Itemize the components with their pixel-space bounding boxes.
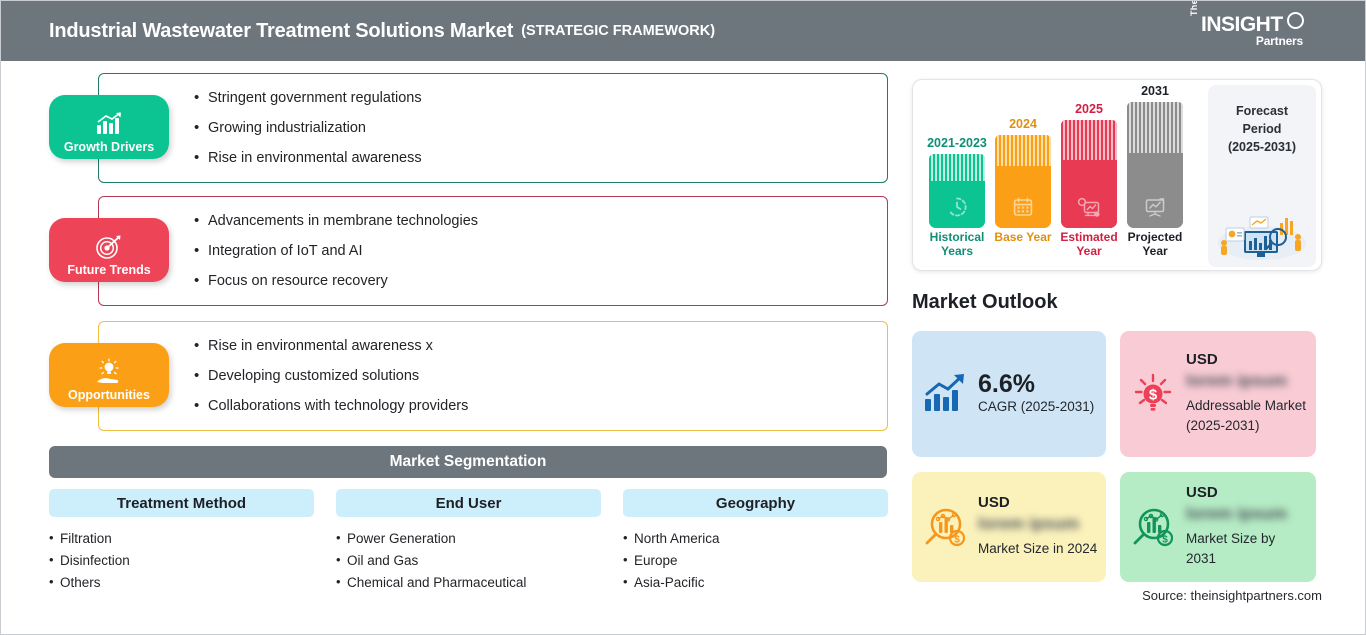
list-item: Focus on resource recovery — [194, 273, 478, 289]
list-item: Disinfection — [49, 553, 314, 568]
outlook-card-market-size-2031[interactable]: $ USD lorem ipsum Market Size by 2031 — [1120, 472, 1316, 582]
list-item: Power Generation — [336, 531, 601, 546]
factor-box-growth-drivers: Stringent government regulations Growing… — [98, 73, 888, 183]
list-item: Filtration — [49, 531, 314, 546]
page-title: Industrial Wastewater Treatment Solution… — [49, 20, 513, 43]
bar-caption: Projected Year — [1119, 230, 1191, 258]
segmentation-column-header-label: Geography — [716, 495, 795, 512]
outlook-card-market-size-2024[interactable]: $ USD lorem ipsum Market Size in 2024 — [912, 472, 1106, 582]
forecast-period-panel: Forecast Period (2025-2031) — [1208, 85, 1316, 267]
bar-caption: Historical Years — [921, 230, 993, 258]
badge-future-trends[interactable]: Future Trends — [49, 218, 169, 282]
badge-label: Opportunities — [68, 389, 150, 402]
list-item: Europe — [623, 553, 888, 568]
segmentation-column-header[interactable]: Geography — [623, 489, 888, 517]
segmentation-item-list: Filtration Disinfection Others — [49, 531, 314, 590]
analytics-gear-icon — [1061, 196, 1117, 218]
badge-growth-drivers[interactable]: Growth Drivers — [49, 95, 169, 159]
segmentation-column-header-label: End User — [436, 495, 502, 512]
forecast-line-2: Period — [1208, 121, 1316, 139]
list-item: Stringent government regulations — [194, 90, 422, 106]
bar-year-label: 2031 — [1125, 84, 1185, 98]
source-attribution: Source: theinsightpartners.com — [1142, 588, 1322, 603]
list-item: Integration of IoT and AI — [194, 243, 478, 259]
metric-label: Market Size in 2024 — [978, 539, 1098, 559]
page-subtitle: (STRATEGIC FRAMEWORK) — [521, 23, 715, 39]
segmentation-column-header[interactable]: Treatment Method — [49, 489, 314, 517]
outlook-card-body: USD lorem ipsum Market Size by 2031 — [1186, 485, 1316, 570]
list-item: Advancements in membrane technologies — [194, 213, 478, 229]
cagr-value: 6.6% — [978, 371, 1098, 397]
logo-partners-text: Partners — [1256, 34, 1303, 48]
list-item: Chemical and Pharmaceutical — [336, 575, 601, 590]
outlook-card-cagr[interactable]: 6.6% CAGR (2025-2031) — [912, 331, 1106, 457]
lightbulb-dollar-icon: $ — [1120, 371, 1186, 417]
outlook-card-body: USD lorem ipsum Market Size in 2024 — [978, 495, 1106, 559]
right-panel: 2021-2023 Historical Years — [901, 61, 1366, 635]
bullet-list-future-trends: Advancements in membrane technologies In… — [194, 213, 478, 289]
hidden-value: lorem ipsum — [978, 514, 1098, 534]
segmentation-column-end-user: End User Power Generation Oil and Gas Ch… — [336, 489, 601, 597]
segmentation-item-list: North America Europe Asia-Pacific — [623, 531, 888, 590]
currency-label: USD — [1186, 352, 1308, 369]
bullet-list-growth-drivers: Stringent government regulations Growing… — [194, 90, 422, 166]
magnifier-chart-dollar-icon: $ — [912, 505, 978, 549]
bar-chart-growth-icon — [94, 110, 124, 138]
badge-opportunities[interactable]: Opportunities — [49, 343, 169, 407]
list-item: North America — [623, 531, 888, 546]
outlook-card-body: 6.6% CAGR (2025-2031) — [978, 371, 1106, 418]
badge-label: Future Trends — [67, 264, 150, 277]
outlook-card-addressable-market[interactable]: $ USD lorem ipsum Addressable Market (20… — [1120, 331, 1316, 457]
insight-partners-logo[interactable]: The INSIGHT Partners — [1189, 12, 1309, 52]
factor-box-future-trends: Advancements in membrane technologies In… — [98, 196, 888, 306]
hand-lightbulb-icon — [94, 358, 124, 386]
market-timeline-chart: 2021-2023 Historical Years — [912, 79, 1322, 271]
forecast-line-1: Forecast — [1208, 103, 1316, 121]
badge-label: Growth Drivers — [64, 141, 154, 154]
timeline-bars: 2021-2023 Historical Years — [921, 80, 1201, 272]
list-item: Asia-Pacific — [623, 575, 888, 590]
magnifier-chart-dollar-icon: $ — [1120, 505, 1186, 549]
cagr-label: CAGR (2025-2031) — [978, 397, 1098, 417]
market-segmentation-title: Market Segmentation — [390, 453, 547, 471]
market-segmentation-title-bar: Market Segmentation — [49, 446, 887, 478]
metric-label: Market Size by 2031 — [1186, 529, 1308, 570]
list-item: Collaborations with technology providers — [194, 398, 468, 414]
bar-caption: Base Year — [987, 230, 1059, 244]
segmentation-column-header-label: Treatment Method — [117, 495, 246, 512]
hidden-value: lorem ipsum — [1186, 504, 1308, 524]
segmentation-column-header[interactable]: End User — [336, 489, 601, 517]
forecast-line-3: (2025-2031) — [1208, 139, 1316, 157]
list-item: Oil and Gas — [336, 553, 601, 568]
segmentation-column-geography: Geography North America Europe Asia-Paci… — [623, 489, 888, 597]
clock-history-icon — [929, 196, 985, 218]
bar-caption: Estimated Year — [1053, 230, 1125, 258]
logo-the-text: The — [1189, 0, 1199, 16]
left-panel: Stringent government regulations Growing… — [1, 61, 901, 635]
list-item: Growing industrialization — [194, 120, 422, 136]
bar-chart-arrow-icon — [912, 373, 978, 415]
list-item: Rise in environmental awareness x — [194, 338, 468, 354]
list-item: Others — [49, 575, 314, 590]
currency-label: USD — [978, 495, 1098, 512]
segmentation-item-list: Power Generation Oil and Gas Chemical an… — [336, 531, 601, 590]
svg-text:$: $ — [1162, 535, 1168, 546]
bullet-list-opportunities: Rise in environmental awareness x Develo… — [194, 338, 468, 414]
target-dart-icon — [94, 233, 124, 261]
outlook-card-body: USD lorem ipsum Addressable Market (2025… — [1186, 352, 1316, 437]
hidden-value: lorem ipsum — [1186, 371, 1308, 391]
list-item: Developing customized solutions — [194, 368, 468, 384]
market-infographic-page: Industrial Wastewater Treatment Solution… — [0, 0, 1366, 635]
page-header: Industrial Wastewater Treatment Solution… — [1, 1, 1366, 61]
presentation-chart-icon — [1127, 196, 1183, 218]
metric-label: Addressable Market (2025-2031) — [1186, 396, 1308, 437]
svg-text:$: $ — [1149, 387, 1158, 404]
bar-year-label: 2021-2023 — [927, 136, 987, 150]
analytics-dashboard-illustration — [1214, 203, 1310, 261]
factor-box-opportunities: Rise in environmental awareness x Develo… — [98, 321, 888, 431]
list-item: Rise in environmental awareness — [194, 150, 422, 166]
bar-year-label: 2025 — [1059, 102, 1119, 116]
market-outlook-title: Market Outlook — [912, 291, 1058, 314]
forecast-period-text: Forecast Period (2025-2031) — [1208, 103, 1316, 156]
calendar-icon — [995, 196, 1051, 218]
logo-ring-icon — [1287, 12, 1304, 29]
bar-year-label: 2024 — [993, 117, 1053, 131]
currency-label: USD — [1186, 485, 1308, 502]
svg-text:$: $ — [954, 535, 960, 546]
segmentation-column-treatment-method: Treatment Method Filtration Disinfection… — [49, 489, 314, 597]
